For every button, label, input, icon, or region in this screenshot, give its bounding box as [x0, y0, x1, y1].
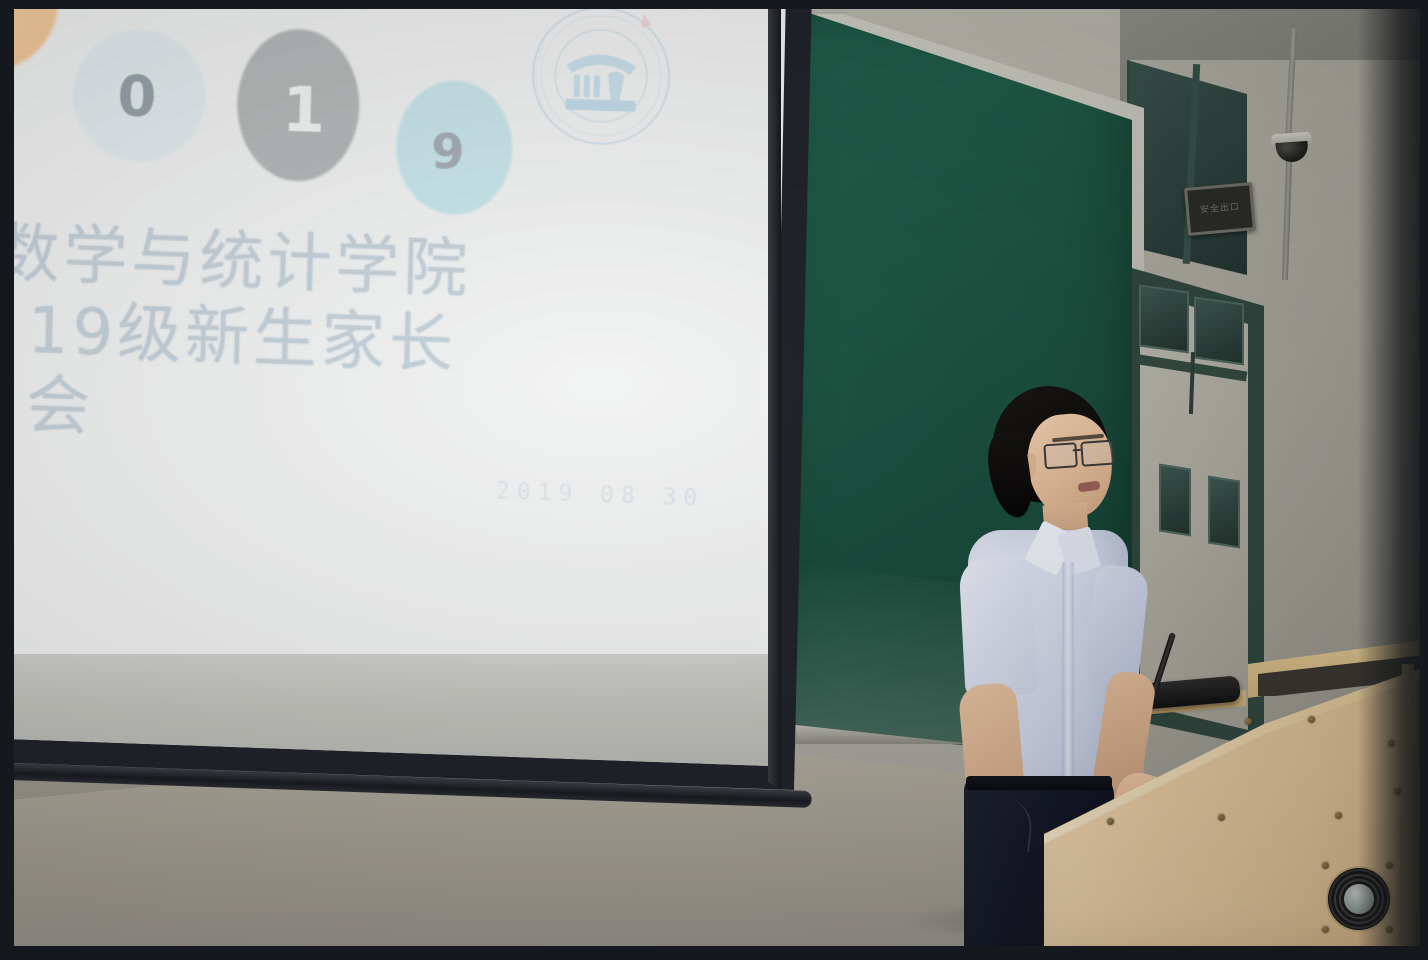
door-glass-pane-upper-left — [1139, 284, 1189, 353]
wall-sign: 安全出口 — [1184, 182, 1256, 236]
shirt-button-placket — [1062, 562, 1074, 792]
year-digit-0: 0 — [117, 69, 157, 126]
shirt-sleeve-right — [1084, 563, 1150, 684]
shirt-sleeve-left — [958, 554, 1037, 698]
eyeglass-bridge — [1073, 449, 1081, 452]
screen-right-edge — [768, 0, 781, 790]
year-digit-1: 1 — [281, 79, 326, 142]
photograph: 安全出口 0 1 9 — [0, 0, 1428, 960]
wall-sign-text: 安全出口 — [1200, 202, 1241, 217]
slide-title: 数学与统计学院 19级新生家长会 — [0, 217, 516, 462]
lectern-screw — [1245, 718, 1252, 725]
grille-screw — [1322, 862, 1329, 869]
photo-border-bottom — [0, 946, 1428, 960]
lectern-screw — [1218, 814, 1225, 821]
grille-screw — [1322, 926, 1329, 933]
slide-title-line2: 19级新生家长会 — [25, 293, 514, 461]
photo-border-top — [0, 0, 1428, 9]
projected-slide: 0 1 9 数学与统计学院 19级新生家长会 — [0, 0, 770, 685]
eyeglass-lens-right — [1080, 440, 1115, 467]
lectern-screw — [1107, 818, 1114, 825]
slide-title-line1: 数学与统计学院 — [0, 217, 472, 308]
photo-border-right — [1420, 0, 1428, 960]
camera-dome — [1275, 141, 1308, 163]
year-digit-9: 9 — [431, 128, 466, 177]
university-seal-icon — [524, 1, 678, 156]
right-edge-shadow — [1358, 0, 1428, 960]
lectern-screw — [1335, 812, 1342, 819]
projection-screen: 0 1 9 数学与统计学院 19级新生家长会 — [0, 0, 786, 780]
presenter-belt — [966, 776, 1112, 790]
door-glass-pane-upper-right — [1194, 296, 1244, 365]
dome-security-camera — [1271, 132, 1313, 169]
photo-border-left — [0, 0, 14, 960]
lectern-screw — [1308, 716, 1315, 723]
eyeglasses — [1043, 440, 1114, 467]
eyeglass-lens-left — [1043, 442, 1078, 469]
